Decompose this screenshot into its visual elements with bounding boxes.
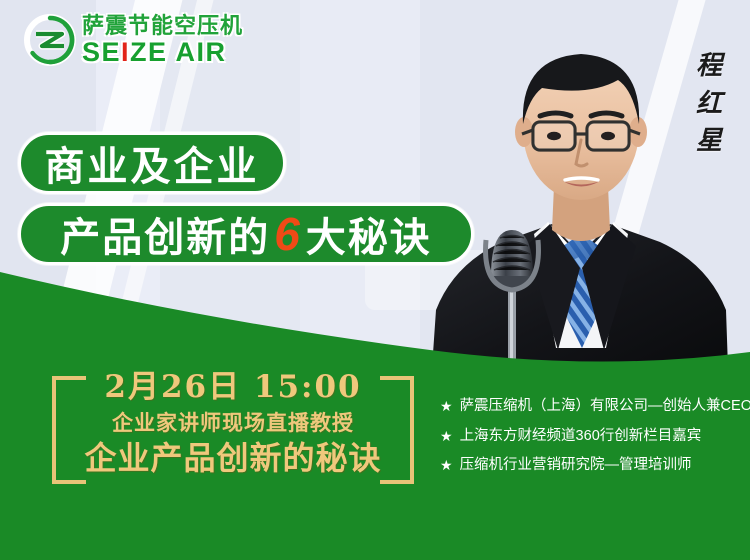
speaker-name-char-1: 程 xyxy=(696,48,722,86)
speaker-credentials-list: ★ 萨震压缩机（上海）有限公司—创始人兼CEO ★ 上海东方财经频道360行创新… xyxy=(440,398,740,487)
speaker-name-char-3: 星 xyxy=(696,123,722,161)
headline-pill-primary: 商业及企业 xyxy=(18,132,286,194)
credential-text: 压缩机行业营销研究院—管理培训师 xyxy=(460,457,692,474)
event-info-lines: 2月26日 15:00 企业家讲师现场直播教授 企业产品创新的秘诀 xyxy=(52,368,414,478)
brand-name-cn: 萨震节能空压机 xyxy=(82,15,243,37)
sz-circle-logo-icon xyxy=(24,14,76,66)
speaker-name-calligraphy: 程 红 星 xyxy=(686,48,732,161)
credential-text: 萨震压缩机（上海）有限公司—创始人兼CEO xyxy=(460,398,750,415)
poster-root: 萨震节能空压机 SEIZE AIR 商业及企业 产品创新的6大秘诀 程 红 星 … xyxy=(0,0,750,560)
brand-en-pre: SE xyxy=(82,37,121,67)
headline-line-1: 商业及企业 xyxy=(45,134,260,192)
brand-logo-text: 萨震节能空压机 SEIZE AIR xyxy=(82,15,243,66)
event-subtitle: 企业家讲师现场直播教授 xyxy=(52,407,414,439)
star-icon: ★ xyxy=(440,428,453,444)
speaker-name-char-2: 红 xyxy=(696,86,722,124)
event-main-topic: 企业产品创新的秘诀 xyxy=(52,438,414,478)
star-icon: ★ xyxy=(440,398,453,414)
credential-text: 上海东方财经频道360行创新栏目嘉宾 xyxy=(460,428,702,445)
headline-number-badge: 6 xyxy=(270,211,306,257)
event-info-block: 2月26日 15:00 企业家讲师现场直播教授 企业产品创新的秘诀 xyxy=(52,368,414,498)
star-icon: ★ xyxy=(440,457,453,473)
headline-line-2-post: 大秘诀 xyxy=(306,205,432,263)
event-date-time: 2月26日 15:00 xyxy=(52,368,414,407)
brand-name-en: SEIZE AIR xyxy=(82,39,243,66)
brand-en-accent-letter: I xyxy=(121,37,130,67)
brand-en-post: ZE AIR xyxy=(130,37,227,67)
brand-logo: 萨震节能空压机 SEIZE AIR xyxy=(24,14,243,66)
headline-line-2-pre: 产品创新的 xyxy=(60,205,270,263)
headline-pill-secondary: 产品创新的6大秘诀 xyxy=(18,203,474,265)
credential-item: ★ 上海东方财经频道360行创新栏目嘉宾 xyxy=(440,428,740,445)
credential-item: ★ 压缩机行业营销研究院—管理培训师 xyxy=(440,457,740,474)
credential-item: ★ 萨震压缩机（上海）有限公司—创始人兼CEO xyxy=(440,398,740,415)
